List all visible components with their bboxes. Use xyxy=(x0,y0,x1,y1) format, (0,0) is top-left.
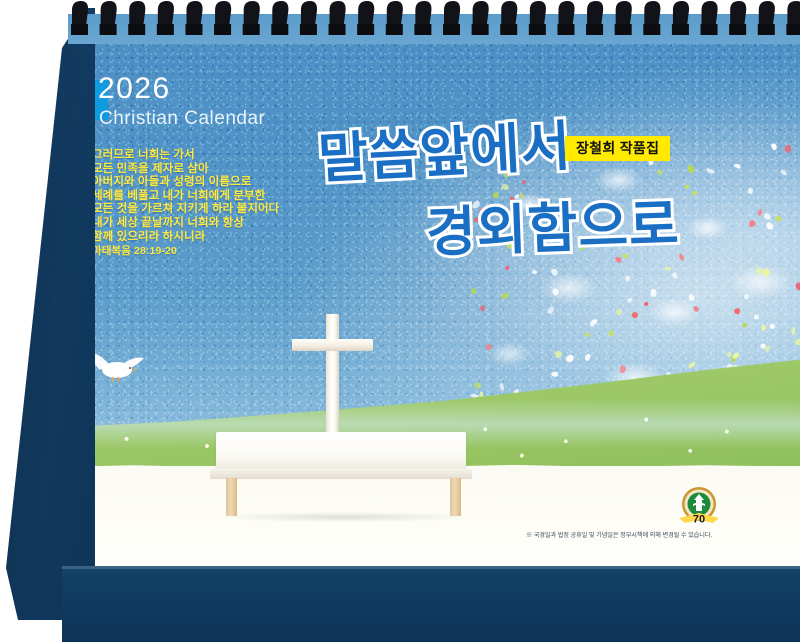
cover-headline: 말씀앞에서 경외함으로 xyxy=(308,102,778,282)
desk-calendar-screenshot: 2026 Christian Calendar 그러므로 너희는 가서 모든 민… xyxy=(0,0,800,642)
calendar-subtitle: Christian Calendar xyxy=(99,109,265,128)
white-dove-icon xyxy=(86,346,148,388)
cross-horizontal-beam xyxy=(292,339,373,351)
bench-shadow xyxy=(218,512,470,522)
holiday-change-disclaimer: ※ 국경일과 법정 공휴일 및 기념일은 정부시책에 의해 변경될 수 있습니다… xyxy=(526,530,788,539)
calendar-cover-page: 2026 Christian Calendar 그러므로 너희는 가서 모든 민… xyxy=(68,14,800,566)
headline-line-2: 경외함으로 xyxy=(425,180,681,268)
bench-leg-right xyxy=(450,478,461,516)
calendar-stand-base-edge xyxy=(62,566,800,569)
certification-emblem-icon: 70 xyxy=(673,480,725,532)
spiral-binding xyxy=(62,0,800,40)
calendar-stand-base xyxy=(62,566,800,642)
bench-leg-left xyxy=(226,478,237,516)
headline-line-1: 말씀앞에서 xyxy=(316,101,573,193)
bench-seat xyxy=(216,432,466,474)
artist-collection-badge: 장철희 작품집 xyxy=(565,136,670,161)
svg-text:70: 70 xyxy=(693,514,705,526)
calendar-year: 2026 xyxy=(98,74,171,104)
calendar-stand-left-panel xyxy=(0,8,95,620)
bench-front-rail xyxy=(210,469,472,479)
cross-vertical-beam xyxy=(326,314,339,444)
